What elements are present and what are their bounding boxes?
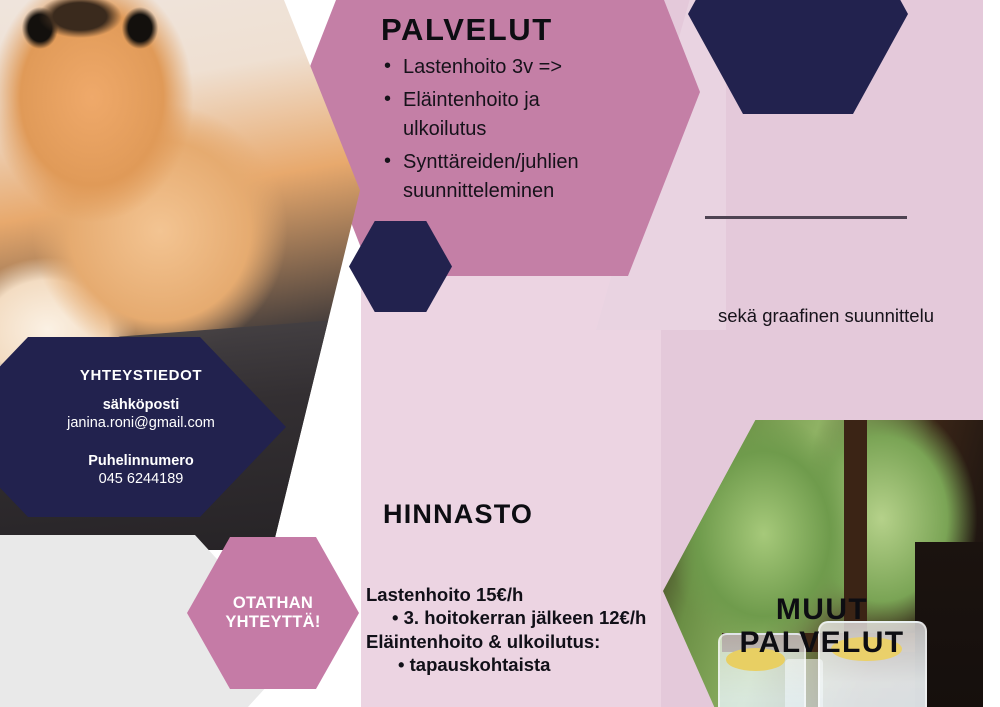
services-item-line: Lastenhoito 3v =>	[403, 56, 562, 78]
contact-phone-label: Puhelinnumero	[0, 453, 286, 469]
services-item-line: ulkoilutus	[403, 118, 486, 140]
pricing-row-petcare-detail: tapauskohtaista	[366, 653, 696, 676]
contact-email-value[interactable]: janina.roni@gmail.com	[0, 415, 286, 431]
cta-line-1: OTATHAN	[233, 594, 313, 612]
cta-line-2: YHTEYTTÄ!	[225, 613, 320, 631]
services-list: Lastenhoito 3v => Eläintenhoito ja ulkoi…	[381, 53, 671, 206]
right-white-margin	[983, 0, 1000, 707]
services-title: PALVELUT	[381, 14, 671, 45]
other-services-title-line2: PALVELUT	[739, 626, 904, 659]
pricing-row-childcare-discount: 3. hoitokerran jälkeen 12€/h	[366, 606, 696, 629]
pricing-row-petcare: Eläintenhoito & ulkoilutus:	[366, 630, 696, 653]
pricing-title: HINNASTO	[383, 499, 1000, 530]
services-item-line: Synttäreiden/juhlien	[403, 151, 579, 173]
other-services-item-continuation: sekä graafinen suunnittelu	[694, 303, 934, 329]
call-to-action-text: OTATHAN YHTEYTTÄ!	[225, 594, 320, 632]
services-section: PALVELUT Lastenhoito 3v => Eläintenhoito…	[381, 14, 671, 206]
services-list-item: Lastenhoito 3v =>	[381, 53, 671, 82]
pricing-list: Lastenhoito 15€/h 3. hoitokerran jälkeen…	[366, 583, 696, 676]
other-services-title: MUUT PALVELUT	[661, 594, 983, 659]
services-list-item: Synttäreiden/juhlien suunnitteleminen	[381, 148, 671, 206]
services-item-line: Eläintenhoito ja	[403, 89, 540, 111]
contact-email-label: sähköposti	[0, 397, 286, 413]
contact-content: YHTEYSTIEDOT sähköposti janina.roni@gmai…	[0, 367, 286, 487]
poster-canvas: PALVELUT Lastenhoito 3v => Eläintenhoito…	[0, 0, 1000, 707]
other-services-title-line1: MUUT	[776, 593, 868, 626]
services-list-item: Eläintenhoito ja ulkoilutus	[381, 86, 671, 144]
services-item-line: suunnitteleminen	[403, 180, 554, 202]
contact-spacer	[0, 431, 286, 453]
pricing-row-childcare: Lastenhoito 15€/h	[366, 583, 696, 606]
other-services-divider	[705, 216, 907, 219]
